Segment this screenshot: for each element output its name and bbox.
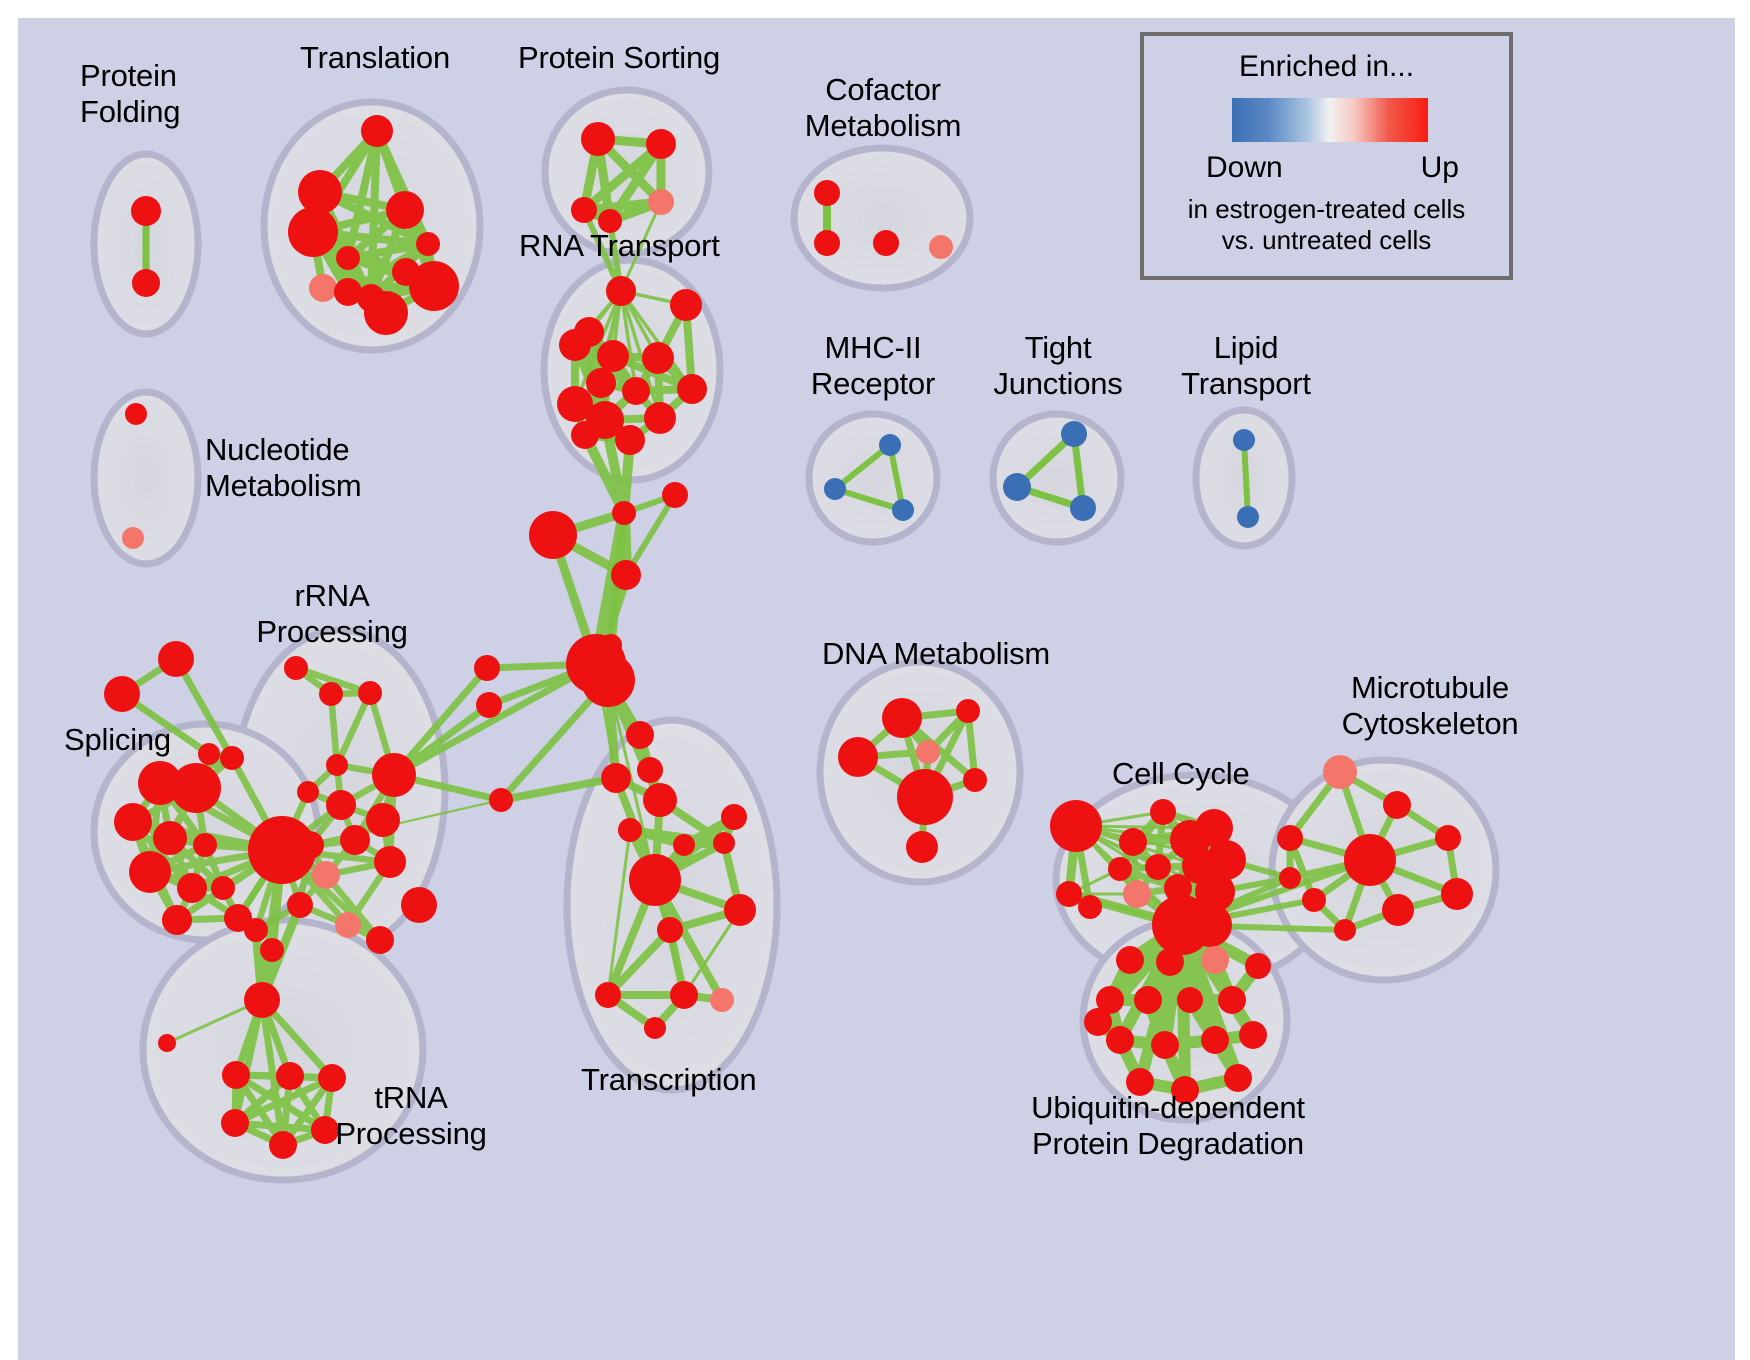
legend-up-label: Up [1421, 151, 1459, 185]
cluster-label-rna-transport: RNA Transport [519, 228, 720, 264]
cluster-label-translation: Translation [300, 40, 450, 76]
cluster-label-ubiquitin-protein-degradation: Ubiquitin-dependentProtein Degradation [988, 1090, 1348, 1162]
legend-title: Enriched in... [1144, 50, 1509, 84]
legend-down-label: Down [1206, 151, 1283, 185]
legend-box: Enriched in... Down Up in estrogen-treat… [1140, 32, 1513, 280]
cluster-label-splicing: Splicing [64, 722, 171, 758]
cluster-label-dna-metabolism: DNA Metabolism [822, 636, 1050, 672]
figure-canvas: ProteinFolding Translation Protein Sorti… [0, 0, 1750, 1360]
cluster-label-lipid-transport: LipidTransport [1168, 330, 1324, 402]
cluster-label-cofactor-metabolism: CofactorMetabolism [790, 72, 976, 144]
cluster-label-protein-folding: ProteinFolding [80, 58, 180, 130]
hull-mhcii [809, 414, 937, 542]
cluster-label-tight-junctions: TightJunctions [973, 330, 1143, 402]
cluster-label-rrna-processing: rRNAProcessing [248, 578, 416, 650]
cluster-label-mhcii-receptor: MHC-IIReceptor [795, 330, 951, 402]
cluster-label-trna-processing: tRNAProcessing [315, 1080, 507, 1152]
cluster-label-protein-sorting: Protein Sorting [518, 40, 720, 76]
cluster-label-nucleotide-metabolism: NucleotideMetabolism [205, 432, 362, 504]
legend-sublabel: in estrogen-treated cellsvs. untreated c… [1144, 194, 1509, 256]
cluster-label-cell-cycle: Cell Cycle [1112, 756, 1250, 792]
cluster-label-transcription: Transcription [581, 1062, 756, 1098]
hull-cofactor [794, 148, 970, 288]
legend-color-gradient-bar [1232, 98, 1428, 142]
cluster-label-microtubule-cytoskeleton: MicrotubuleCytoskeleton [1312, 670, 1548, 742]
